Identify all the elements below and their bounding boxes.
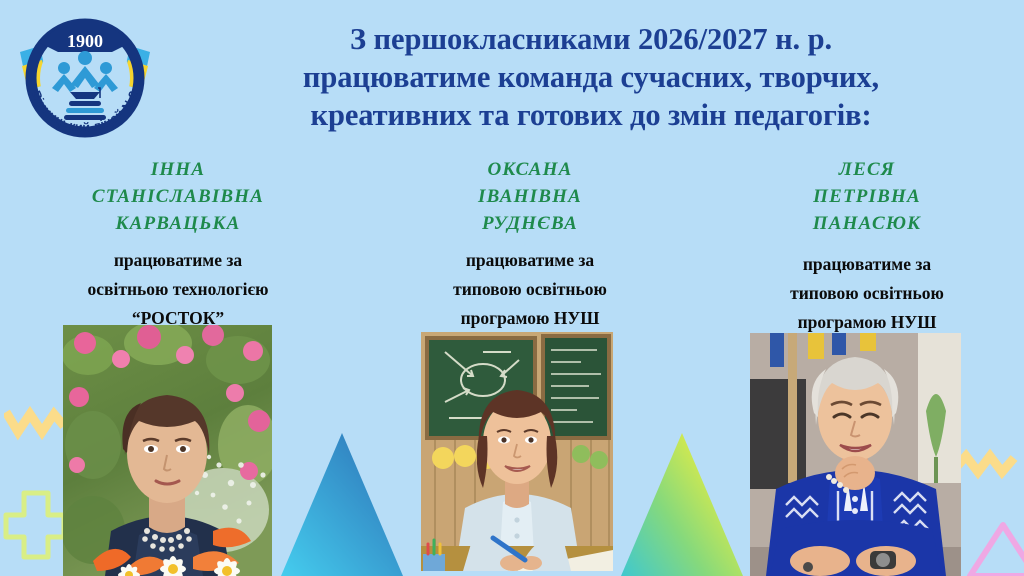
teacher-name-1: ІННА СТАНІСЛАВІВНА КАРВАЦЬКА bbox=[28, 156, 328, 237]
teacher-photo-3-image bbox=[750, 333, 961, 576]
teacher-column-1: ІННА СТАНІСЛАВІВНА КАРВАЦЬКА працюватиме… bbox=[28, 156, 328, 333]
cross-outline-decoration bbox=[2, 489, 66, 561]
teacher-name-3: ЛЕСЯ ПЕТРІВНА ПАНАСЮК bbox=[712, 156, 1022, 237]
teacher-name-2-line-2: ІВАНІВНА bbox=[380, 183, 680, 210]
teacher-photo-3 bbox=[750, 333, 961, 576]
teacher-name-2-line-3: РУДНЄВА bbox=[380, 210, 680, 237]
zigzag-decoration-left bbox=[4, 404, 66, 449]
slide-canvas: 1900 Вінницький ліцей №2 bbox=[0, 0, 1024, 576]
teacher-desc-2-line-3: програмою НУШ bbox=[380, 304, 680, 333]
gradient-triangle-blue bbox=[281, 433, 403, 576]
title-line-2: працюватиме команда сучасних, творчих, bbox=[176, 58, 1006, 96]
teacher-name-1-line-3: КАРВАЦЬКА bbox=[28, 210, 328, 237]
teacher-desc-1-line-1: працюватиме за bbox=[28, 246, 328, 275]
title-line-3: креативних та готових до змін педагогів: bbox=[176, 96, 1006, 134]
teacher-description-3: працюватиме за типовою освітньою програм… bbox=[712, 250, 1022, 337]
teacher-description-2: працюватиме за типовою освітньою програм… bbox=[380, 246, 680, 333]
school-logo-graphic: 1900 Вінницький ліцей №2 bbox=[14, 8, 156, 146]
teacher-photo-1 bbox=[63, 325, 272, 576]
logo-year-text: 1900 bbox=[67, 31, 103, 51]
teacher-desc-2-line-1: працюватиме за bbox=[380, 246, 680, 275]
teacher-name-1-line-1: ІННА bbox=[28, 156, 328, 183]
teacher-photo-1-image bbox=[63, 325, 272, 576]
teacher-name-3-line-3: ПАНАСЮК bbox=[712, 210, 1022, 237]
teacher-desc-1-line-2: освітньою технологією bbox=[28, 275, 328, 304]
title-line-1: З першокласниками 2026/2027 н. р. bbox=[176, 20, 1006, 58]
teacher-name-2: ОКСАНА ІВАНІВНА РУДНЄВА bbox=[380, 156, 680, 237]
teacher-desc-3-line-1: працюватиме за bbox=[712, 250, 1022, 279]
teacher-description-1: працюватиме за освітньою технологією “РО… bbox=[28, 246, 328, 333]
teacher-photo-2 bbox=[421, 332, 613, 571]
teacher-column-2: ОКСАНА ІВАНІВНА РУДНЄВА працюватиме за т… bbox=[380, 156, 680, 333]
teacher-photo-2-image bbox=[421, 332, 613, 571]
teacher-desc-2-line-2: типовою освітньою bbox=[380, 275, 680, 304]
page-title: З першокласниками 2026/2027 н. р. працюв… bbox=[176, 20, 1006, 134]
gradient-triangle-green bbox=[621, 433, 743, 576]
teacher-name-3-line-1: ЛЕСЯ bbox=[712, 156, 1022, 183]
zigzag-decoration-right bbox=[952, 448, 1022, 493]
teacher-name-1-line-2: СТАНІСЛАВІВНА bbox=[28, 183, 328, 210]
teacher-column-3: ЛЕСЯ ПЕТРІВНА ПАНАСЮК працюватиме за тип… bbox=[712, 156, 1022, 337]
school-logo: 1900 Вінницький ліцей №2 bbox=[14, 8, 156, 146]
triangle-outline-decoration bbox=[966, 520, 1024, 576]
teacher-name-2-line-1: ОКСАНА bbox=[380, 156, 680, 183]
teacher-name-3-line-2: ПЕТРІВНА bbox=[712, 183, 1022, 210]
teacher-desc-3-line-2: типовою освітньою bbox=[712, 279, 1022, 308]
